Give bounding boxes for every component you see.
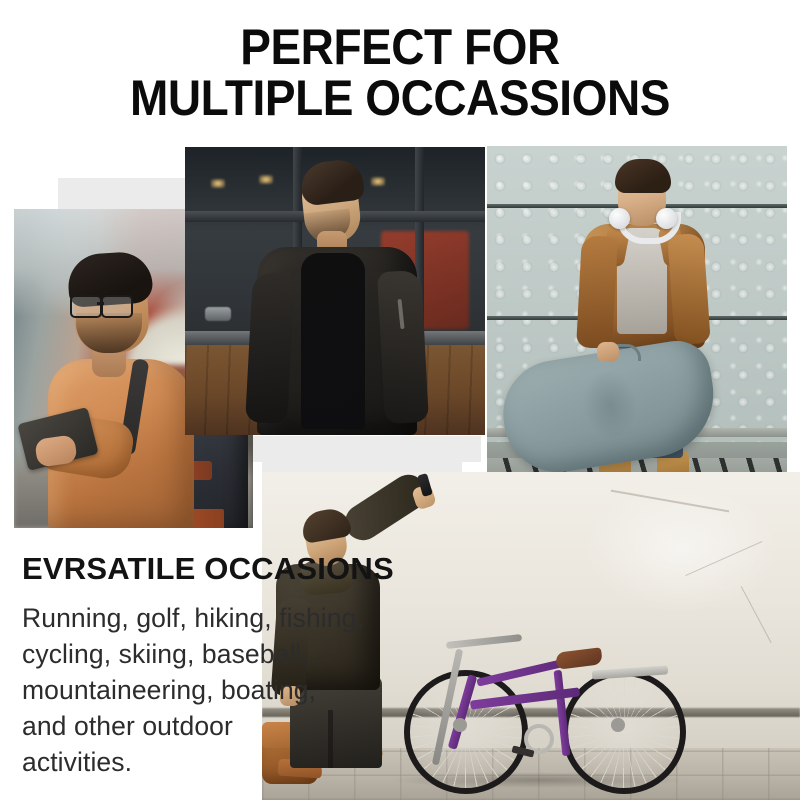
headphones-right-cup (656, 208, 677, 229)
feature-body-copy: Running, golf, hiking, fishing, cycling,… (22, 600, 422, 780)
poster-canvas: PERFECT FOR MULTIPLE OCCASSIONS (0, 0, 800, 800)
jacket-left-sleeve (576, 235, 618, 349)
photo-black-bomber-scene (185, 147, 485, 435)
photo-black-bomber (185, 147, 485, 435)
eyeglasses-right-lens (101, 295, 133, 318)
headline-line-1: PERFECT FOR (32, 22, 768, 73)
feature-subhead: EVRSATILE OCCASIONS (22, 552, 394, 586)
jacket-right-sleeve (667, 233, 711, 345)
bicycle-front-hub (453, 718, 467, 732)
cafe-ceiling-light-3 (371, 177, 385, 186)
cello-man-hand (597, 342, 619, 362)
cafe-ceiling-light-1 (211, 179, 225, 188)
bomber-left-sleeve (245, 272, 295, 424)
bomber-front-opening (301, 253, 365, 429)
body-line-3: mountaineering, boating, (22, 672, 422, 708)
headline-line-2: MULTIPLE OCCASSIONS (32, 73, 768, 124)
bicycle-rear-hub (611, 718, 625, 732)
cello-case-waist-shadow (578, 366, 642, 444)
cafe-ashtray (205, 307, 231, 321)
page-title: PERFECT FOR MULTIPLE OCCASSIONS (32, 22, 768, 124)
headphones-left-cup (609, 208, 630, 229)
body-line-4: and other outdoor (22, 708, 422, 744)
cello-man-hair (615, 159, 671, 193)
cafe-ceiling-light-2 (259, 175, 273, 184)
photo-cello-case (487, 146, 787, 498)
body-line-5: activities. (22, 744, 422, 780)
body-line-2: cycling, skiing, baseball, (22, 636, 422, 672)
eyeglasses-left-lens (70, 295, 102, 318)
photo-cello-case-scene (487, 146, 787, 498)
bicycle-rear-wheel (562, 670, 686, 794)
body-line-1: Running, golf, hiking, fishing, (22, 600, 422, 636)
bomber-right-sleeve (377, 270, 429, 424)
eyeglasses-bridge (97, 302, 104, 305)
